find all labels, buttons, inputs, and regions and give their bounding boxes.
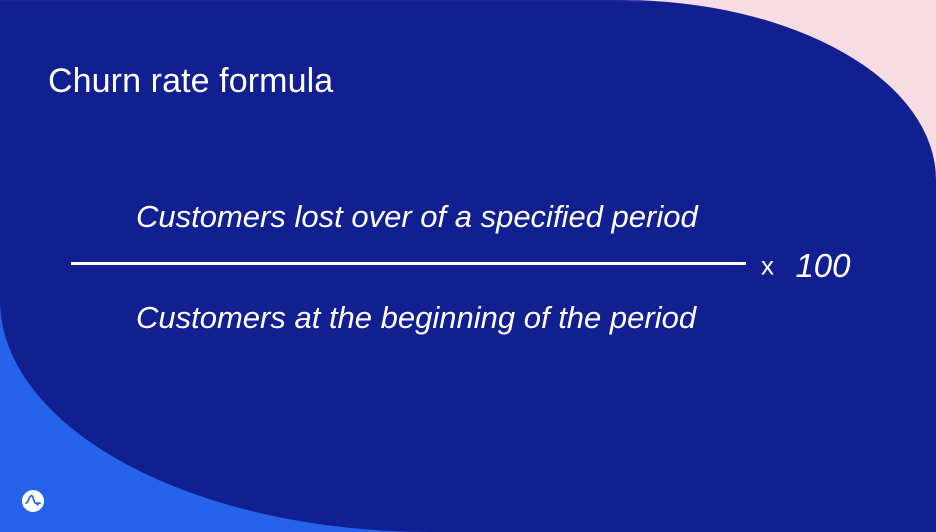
formula-multiplier: x 100 <box>761 247 851 287</box>
slide-canvas: Churn rate formula Customers lost over o… <box>0 0 936 532</box>
formula-denominator: Customers at the beginning of the period <box>136 298 746 338</box>
formula-fraction: Customers lost over of a specified perio… <box>71 185 746 345</box>
formula-numerator: Customers lost over of a specified perio… <box>136 197 746 237</box>
page-title: Churn rate formula <box>48 62 333 101</box>
amplitude-logo-icon <box>21 489 45 513</box>
multiply-sign: x <box>761 251 774 281</box>
top-edge-hairline <box>0 0 936 2</box>
multiply-value: 100 <box>795 247 850 284</box>
slide-content: Churn rate formula Customers lost over o… <box>0 0 936 532</box>
churn-rate-formula: Customers lost over of a specified perio… <box>71 185 871 345</box>
formula-fraction-bar <box>71 262 746 265</box>
